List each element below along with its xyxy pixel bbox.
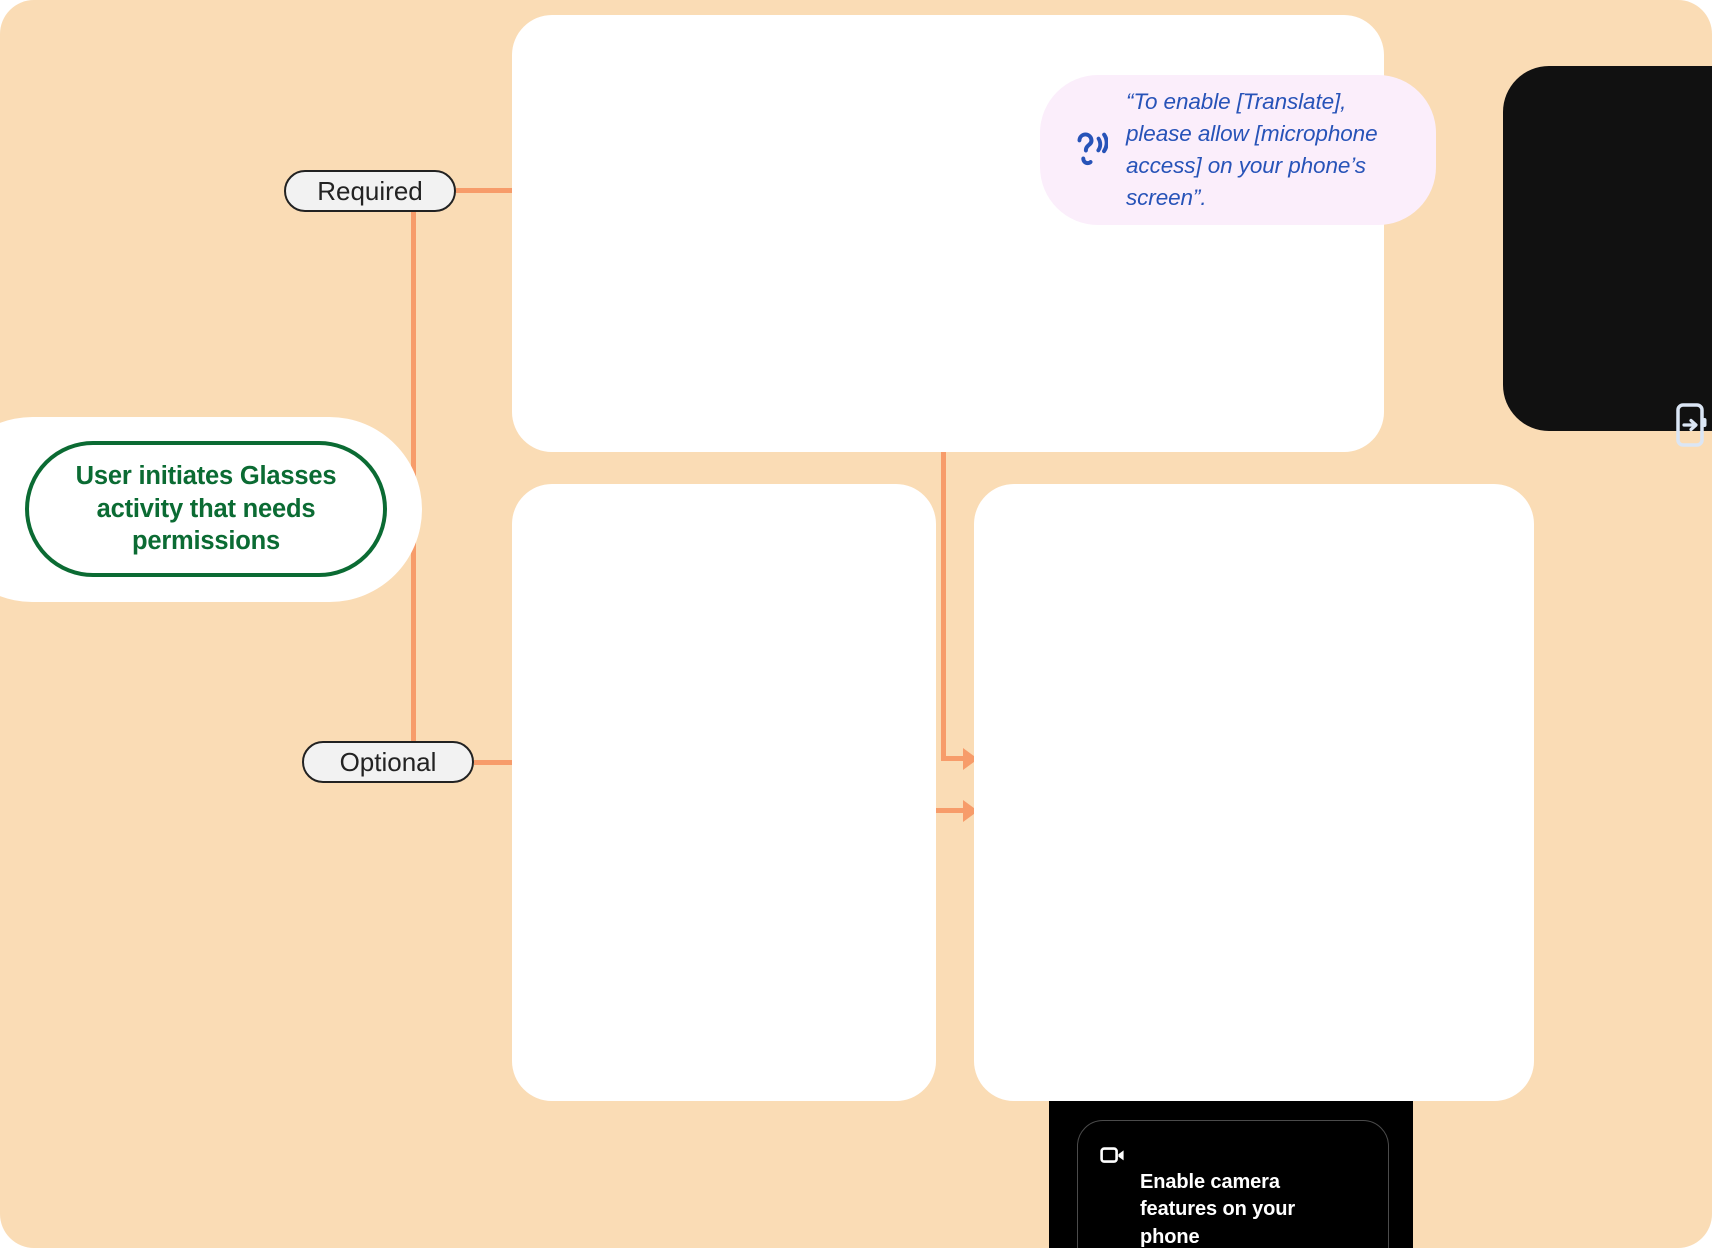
branch-pill-optional[interactable]: Optional (302, 741, 474, 783)
branch-pill-required-label: Required (317, 176, 423, 207)
connector-required-to-bubble (456, 188, 518, 193)
speech-bubble-microphone-text: “To enable [Translate], please allow [mi… (1126, 86, 1378, 214)
glasses-display-unlock (1503, 66, 1712, 431)
diagram-canvas: User initiates Glasses activity that nee… (0, 0, 1712, 1248)
panel-optional-flow: Enable camera features on your phone To … (512, 484, 936, 1101)
branch-pill-required[interactable]: Required (284, 170, 456, 212)
ear-hearing-icon (1068, 128, 1108, 173)
camera-notification-body: Enable camera features on your phone To … (1140, 1141, 1341, 1248)
start-node-container: User initiates Glasses activity that nee… (0, 417, 422, 602)
camera-notification-title: Enable camera features on your phone (1140, 1169, 1341, 1248)
start-node-label: User initiates Glasses activity that nee… (76, 460, 337, 558)
video-camera-icon (1100, 1141, 1126, 1248)
camera-notification-card[interactable]: Enable camera features on your phone To … (1077, 1120, 1389, 1248)
start-node[interactable]: User initiates Glasses activity that nee… (25, 441, 387, 577)
panel-required-flow: “To enable [Translate], please allow [mi… (512, 15, 1384, 452)
branch-pill-optional-label: Optional (340, 747, 437, 778)
phone-unlock-arrow-icon (1671, 402, 1709, 453)
speech-bubble-microphone: “To enable [Translate], please allow [mi… (1040, 75, 1436, 225)
panel-phone-flow: Continue unlock and permissions flow on … (974, 484, 1534, 1101)
